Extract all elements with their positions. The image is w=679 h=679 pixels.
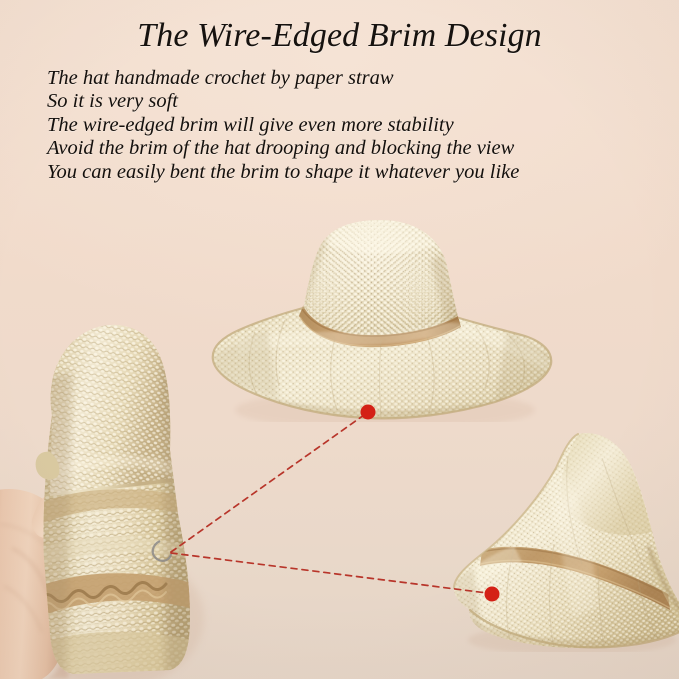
description-line-1: The hat handmade crochet by paper straw (47, 67, 679, 90)
product-feature-image: The Wire-Edged Brim Design The hat handm… (0, 0, 679, 679)
description-line-3: The wire-edged brim will give even more … (47, 114, 679, 137)
description-line-4: Avoid the brim of the hat drooping and b… (47, 137, 679, 160)
description-line-5: You can easily bent the brim to shape it… (47, 161, 679, 184)
feature-description: The hat handmade crochet by paper straw … (0, 67, 679, 184)
page-title: The Wire-Edged Brim Design (0, 0, 679, 53)
description-line-2: So it is very soft (47, 90, 679, 113)
text-block: The Wire-Edged Brim Design The hat handm… (0, 0, 679, 184)
